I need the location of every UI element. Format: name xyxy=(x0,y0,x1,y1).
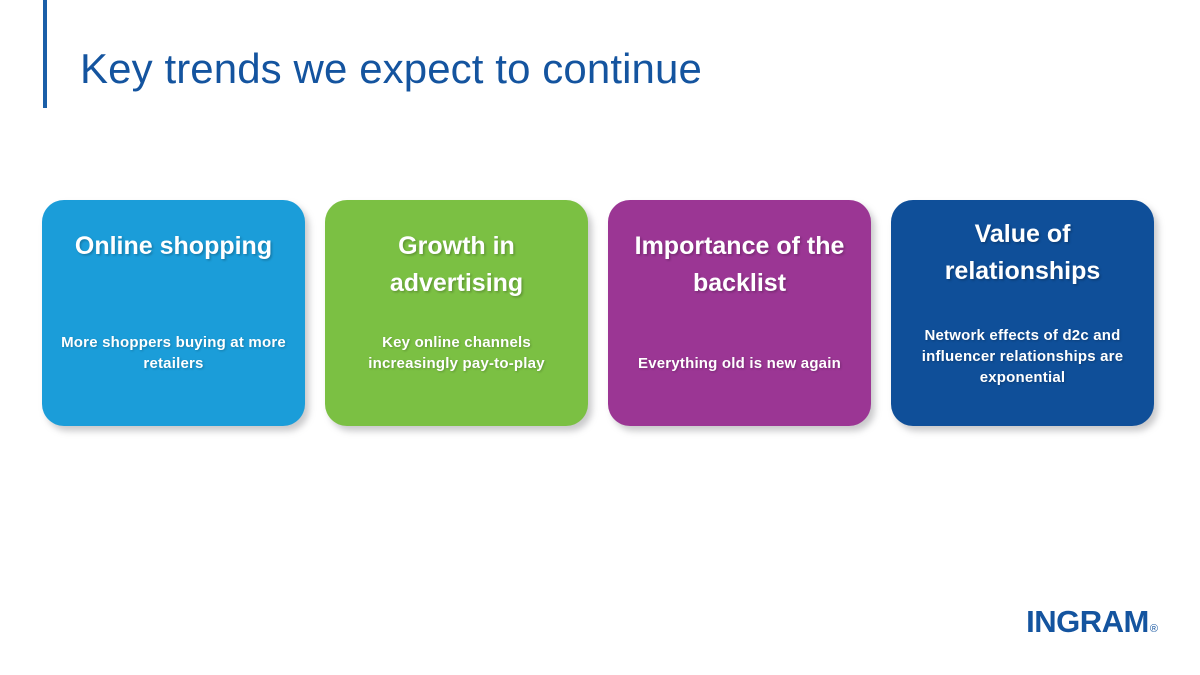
page-title: Key trends we expect to continue xyxy=(80,43,980,95)
trend-card-importance-of-the-backlist[interactable]: Importance of the backlist Everything ol… xyxy=(608,200,871,426)
logo-wordmark: INGRAM xyxy=(1026,606,1149,637)
trend-card-title: Online shopping xyxy=(58,228,289,265)
trend-card-value-of-relationships[interactable]: Value of relationships Network effects o… xyxy=(891,200,1154,426)
trend-card-subtitle: More shoppers buying at more retailers xyxy=(58,332,289,374)
trend-card-title: Growth in advertising xyxy=(341,228,572,302)
trend-card-subtitle: Network effects of d2c and influencer re… xyxy=(907,325,1138,388)
trend-card-title: Importance of the backlist xyxy=(624,228,855,302)
trend-card-growth-in-advertising[interactable]: Growth in advertising Key online channel… xyxy=(325,200,588,426)
trend-card-subtitle: Key online channels increasingly pay-to-… xyxy=(341,332,572,374)
slide-canvas: Key trends we expect to continue Online … xyxy=(0,0,1200,675)
ingram-logo: INGRAM ® xyxy=(1026,606,1158,637)
registered-trademark-icon: ® xyxy=(1150,624,1158,635)
trend-card-row: Online shopping More shoppers buying at … xyxy=(42,200,1156,426)
trend-card-title: Value of relationships xyxy=(907,216,1138,290)
trend-card-online-shopping[interactable]: Online shopping More shoppers buying at … xyxy=(42,200,305,426)
title-accent-bar xyxy=(43,0,47,108)
trend-card-subtitle: Everything old is new again xyxy=(624,353,855,374)
